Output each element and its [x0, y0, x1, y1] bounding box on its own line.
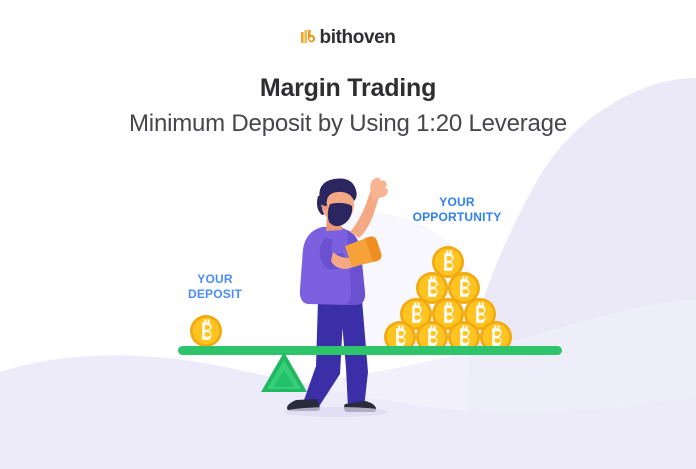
deposit-coin — [190, 315, 222, 347]
label-your-opportunity-line2: OPPORTUNITY — [413, 210, 502, 224]
label-your-opportunity: YOUR OPPORTUNITY — [383, 195, 531, 225]
character-ground-shadow — [284, 407, 388, 417]
leverage-seesaw-illustration — [0, 0, 696, 469]
character-man-with-megaphone — [287, 178, 388, 412]
fulcrum-triangle — [261, 352, 307, 392]
opportunity-coin-pyramid — [384, 246, 512, 353]
label-your-deposit: YOUR DEPOSIT — [163, 272, 267, 302]
label-your-deposit-line1: YOUR — [197, 272, 232, 286]
infographic-canvas: bithoven Margin Trading Minimum Deposit … — [0, 0, 696, 469]
label-your-opportunity-line1: YOUR — [439, 195, 474, 209]
character-beard — [328, 203, 352, 226]
label-your-deposit-line2: DEPOSIT — [188, 287, 242, 301]
balance-beam — [178, 346, 562, 355]
